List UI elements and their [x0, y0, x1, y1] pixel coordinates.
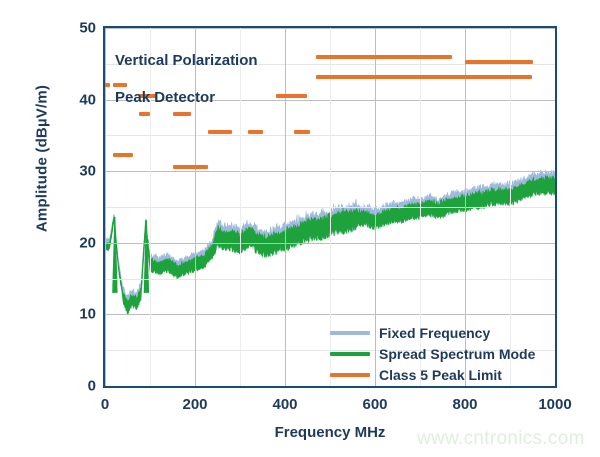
- limit-segment: [276, 94, 307, 98]
- x-tick-label: 600: [362, 396, 387, 413]
- plot-title-line2: Peak Detector: [115, 89, 258, 108]
- y-tick-label: 20: [79, 234, 96, 251]
- x-tick-label: 400: [272, 396, 297, 413]
- legend-swatch: [330, 352, 370, 356]
- legend-item[interactable]: Spread Spectrum Mode: [330, 343, 535, 364]
- x-tick-label: 800: [452, 396, 477, 413]
- y-tick-label: 10: [79, 306, 96, 323]
- limit-segment: [316, 75, 532, 79]
- limit-segment: [294, 130, 310, 134]
- legend-swatch: [330, 331, 370, 335]
- legend-item[interactable]: Fixed Frequency: [330, 322, 535, 343]
- legend-item[interactable]: Class 5 Peak Limit: [330, 364, 535, 385]
- legend-label: Class 5 Peak Limit: [379, 367, 502, 383]
- limit-segment: [105, 83, 110, 87]
- y-tick-label: 30: [79, 163, 96, 180]
- grid-line-major-v: [555, 28, 556, 386]
- grid-line-major-h: [105, 386, 555, 387]
- plot-title-line1: Vertical Polarization: [115, 52, 258, 71]
- legend-label: Fixed Frequency: [379, 325, 490, 341]
- legend-swatch: [330, 373, 370, 377]
- y-tick-label: 0: [88, 378, 96, 395]
- grid-line-major-v: [105, 28, 106, 386]
- x-tick-label: 200: [182, 396, 207, 413]
- limit-segment: [248, 130, 263, 134]
- plot-area: Vertical Polarization Peak Detector Fixe…: [103, 26, 557, 388]
- limit-segment: [173, 165, 208, 169]
- limit-segment: [465, 60, 533, 64]
- grid-line-major-v: [285, 28, 286, 386]
- y-axis-label: Amplitude (dBµV/m): [34, 39, 51, 279]
- watermark: www.cntronics.com: [417, 428, 585, 450]
- chart-legend: Fixed FrequencySpread Spectrum ModeClass…: [330, 322, 535, 385]
- legend-label: Spread Spectrum Mode: [379, 346, 535, 362]
- chart-root: Amplitude (dBµV/m) 01020304050 Vertical …: [0, 0, 600, 457]
- limit-segment: [316, 55, 453, 59]
- limit-segment: [113, 153, 133, 157]
- x-tick-label: 0: [101, 396, 109, 413]
- y-tick-label: 40: [79, 91, 96, 108]
- x-tick-label: 1000: [538, 396, 571, 413]
- plot-title: Vertical Polarization Peak Detector: [115, 33, 258, 127]
- y-tick-label: 50: [79, 20, 96, 37]
- limit-segment: [208, 130, 232, 134]
